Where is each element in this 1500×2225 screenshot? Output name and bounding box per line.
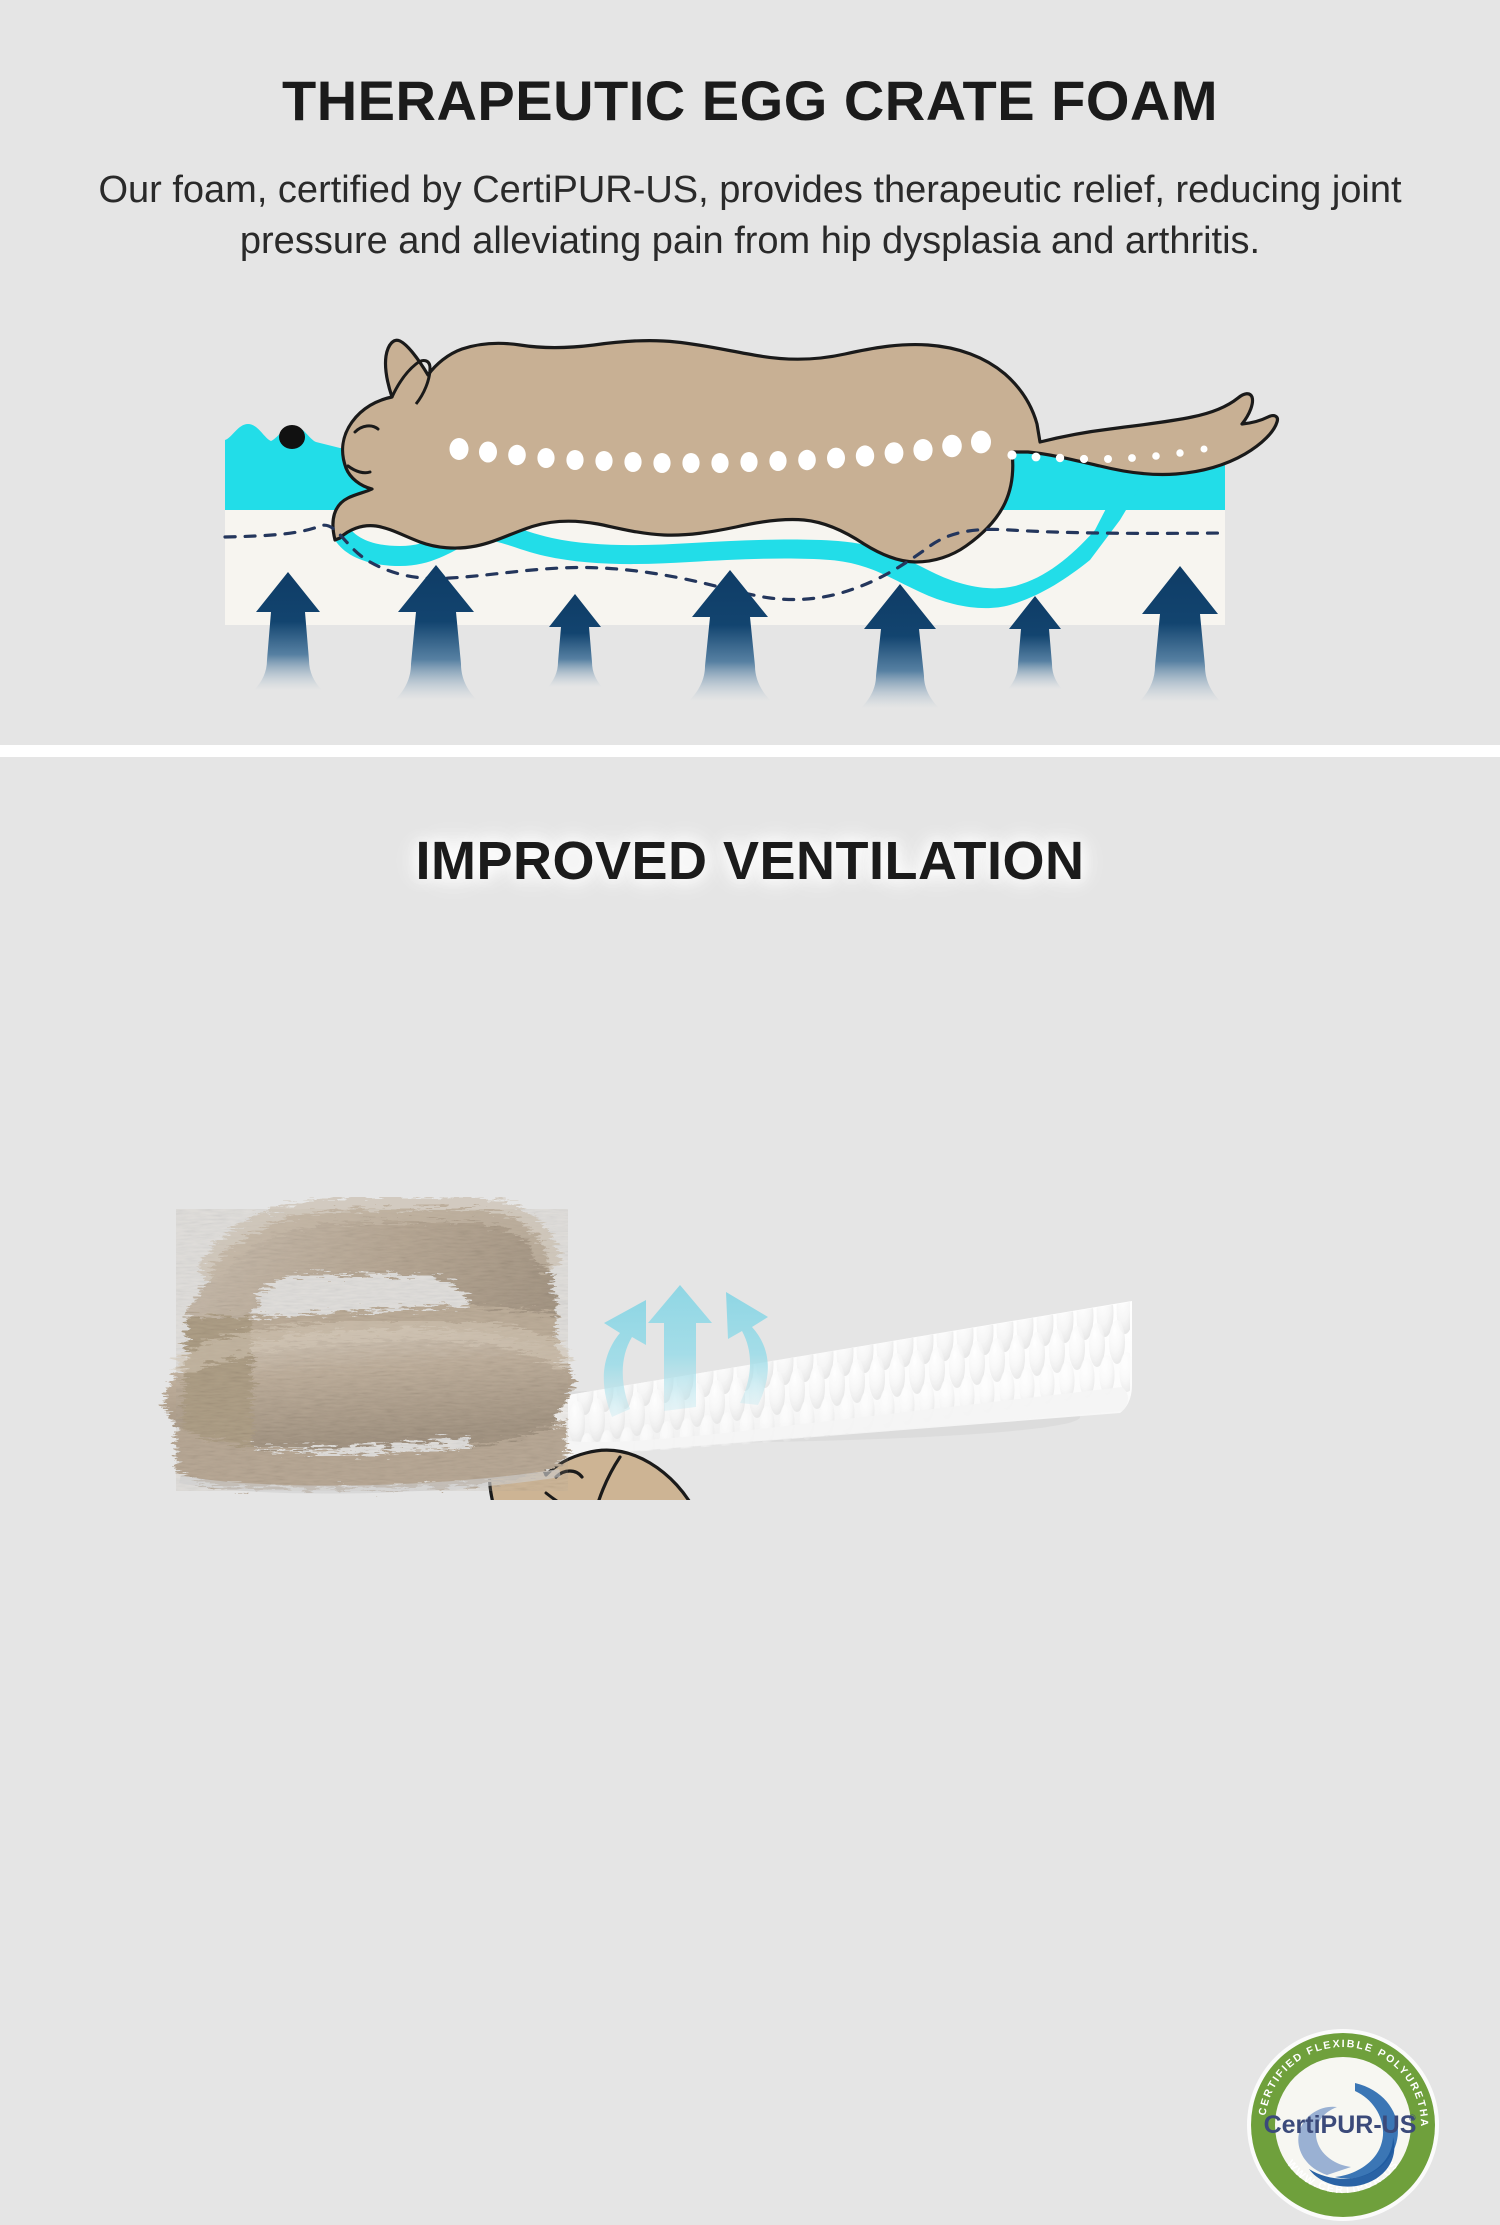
dog-nose: [279, 425, 305, 449]
badge-registered-mark: ®: [1409, 2113, 1416, 2123]
panel-improved-ventilation: IMPROVED VENTILATION: [0, 757, 1500, 1500]
badge-center-text: CertiPUR-US: [1264, 2111, 1417, 2139]
foam-cross-section-illustration: [0, 0, 1500, 745]
infographic-page: THERAPEUTIC EGG CRATE FOAM Our foam, cer…: [0, 0, 1500, 1500]
section-divider: [0, 745, 1500, 757]
panel-therapeutic-foam: THERAPEUTIC EGG CRATE FOAM Our foam, cer…: [0, 0, 1500, 745]
certipur-us-badge: CONTAINS CERTIFIED FLEXIBLE POLYURETHANE…: [1243, 2025, 1443, 2225]
ventilation-illustration: [0, 757, 1500, 1500]
plush-bolster-bed: [165, 1209, 573, 1491]
